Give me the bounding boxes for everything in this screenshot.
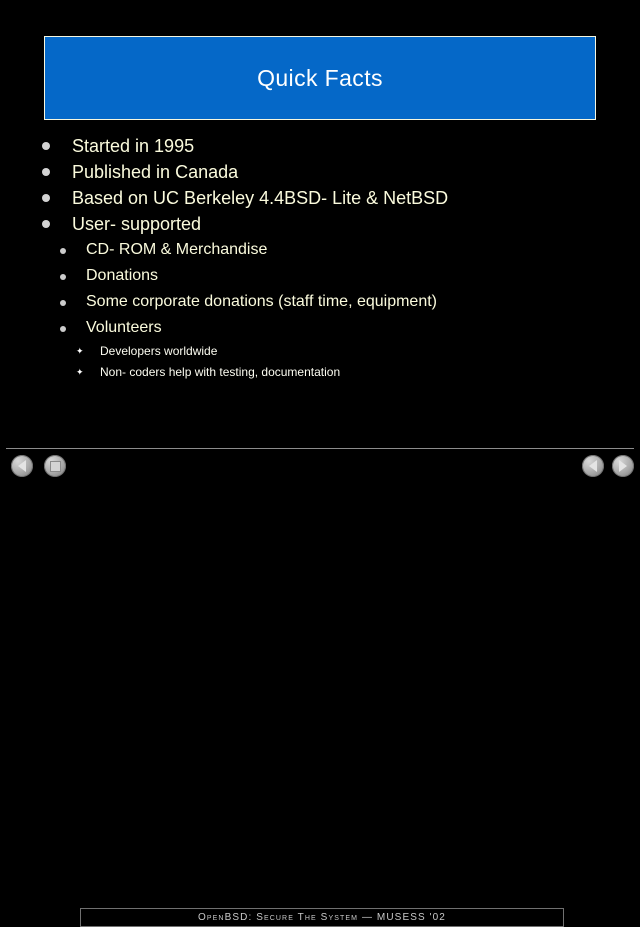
disc-bullet-icon	[60, 248, 66, 254]
list-item: ✦ Non- coders help with testing, documen…	[0, 362, 640, 383]
chevron-left-icon	[11, 455, 33, 477]
disc-bullet-icon	[60, 274, 66, 280]
list-item: Based on UC Berkeley 4.4BSD- Lite & NetB…	[0, 185, 640, 211]
stop-square-icon	[44, 455, 66, 477]
list-item-label: User- supported	[72, 211, 201, 237]
footer-divider	[6, 448, 634, 449]
next-button[interactable]	[612, 455, 634, 477]
list-item-label: Volunteers	[86, 315, 162, 341]
disc-bullet-icon	[42, 168, 50, 176]
list-item-label: Published in Canada	[72, 159, 238, 185]
slide-title-banner: Quick Facts	[44, 36, 596, 120]
list-item-label: Started in 1995	[72, 133, 194, 159]
previous-button[interactable]	[582, 455, 604, 477]
disc-bullet-icon	[60, 326, 66, 332]
stop-button[interactable]	[44, 455, 66, 477]
list-item-label: CD- ROM & Merchandise	[86, 237, 267, 263]
list-item-label: Non- coders help with testing, documenta…	[100, 362, 340, 383]
list-item: CD- ROM & Merchandise	[0, 237, 640, 263]
disc-bullet-icon	[60, 300, 66, 306]
footer-toolbar: OpenBSD: Secure The System — MUSESS '02	[0, 452, 640, 480]
list-item: Started in 1995	[0, 133, 640, 159]
star-bullet-icon: ✦	[76, 348, 83, 355]
list-item: Published in Canada	[0, 159, 640, 185]
list-item-label: Based on UC Berkeley 4.4BSD- Lite & NetB…	[72, 185, 448, 211]
list-item-label: Some corporate donations (staff time, eq…	[86, 289, 437, 315]
list-item: Volunteers	[0, 315, 640, 341]
disc-bullet-icon	[42, 194, 50, 202]
slide-canvas: Quick Facts Started in 1995 Published in…	[0, 0, 640, 480]
list-item-label: Donations	[86, 263, 158, 289]
disc-bullet-icon	[42, 142, 50, 150]
page-title: Quick Facts	[257, 67, 383, 90]
bullet-list: Started in 1995 Published in Canada Base…	[0, 133, 640, 383]
disc-bullet-icon	[42, 220, 50, 228]
list-item: ✦ Developers worldwide	[0, 341, 640, 362]
chevron-right-icon	[612, 455, 634, 477]
footer-titlebar: OpenBSD: Secure The System — MUSESS '02	[80, 908, 564, 927]
chevron-left-icon	[582, 455, 604, 477]
list-item: Donations	[0, 263, 640, 289]
footer-title: OpenBSD: Secure The System — MUSESS '02	[198, 913, 446, 923]
list-item-label: Developers worldwide	[100, 341, 217, 362]
list-item: Some corporate donations (staff time, eq…	[0, 289, 640, 315]
star-bullet-icon: ✦	[76, 369, 83, 376]
list-item: User- supported	[0, 211, 640, 237]
back-button[interactable]	[11, 455, 33, 477]
